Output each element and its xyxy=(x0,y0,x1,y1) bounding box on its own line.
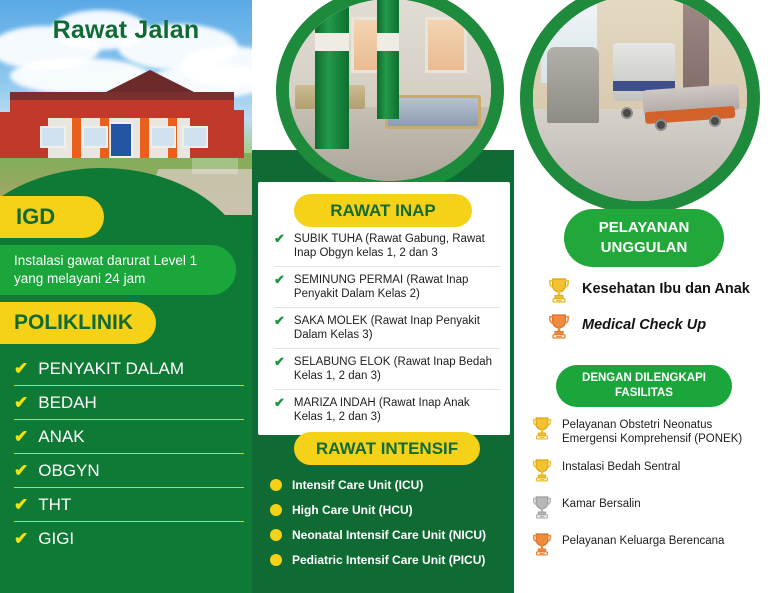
list-item[interactable]: Neonatal Intensif Care Unit (NICU) xyxy=(270,522,510,547)
bullet-dot-icon xyxy=(270,529,282,541)
list-item-label: Kamar Bersalin xyxy=(562,494,641,511)
poliklinik-pill: POLIKLINIK xyxy=(0,302,156,344)
list-item[interactable]: ✔ THT xyxy=(14,488,244,522)
wheel xyxy=(655,119,667,131)
list-item-label: Kesehatan Ibu dan Anak xyxy=(582,276,750,298)
list-item-label: THT xyxy=(38,495,71,515)
list-item-label: SELABUNG ELOK (Rawat Inap Bedah Kelas 1,… xyxy=(294,355,500,383)
trophy-icon xyxy=(532,415,552,441)
list-item-label: PENYAKIT DALAM xyxy=(38,359,184,379)
ward-curtain xyxy=(315,0,349,149)
building-sign xyxy=(192,158,238,174)
rawat-intensif-pill: RAWAT INTENSIF xyxy=(294,432,480,465)
list-item[interactable]: Pelayanan Keluarga Berencana xyxy=(532,531,768,557)
check-icon: ✔ xyxy=(274,355,285,369)
check-icon: ✔ xyxy=(274,314,285,328)
list-item[interactable]: ✔ SUBIK TUHA (Rawat Gabung, Rawat Inap O… xyxy=(274,226,500,267)
poliklinik-pill-label: POLIKLINIK xyxy=(14,311,133,335)
wheel xyxy=(621,107,633,119)
list-item[interactable]: Kesehatan Ibu dan Anak xyxy=(548,276,764,304)
left-column: Rawat Jalan IGD Instalasi gawat darurat … xyxy=(0,0,252,593)
poliklinik-list: ✔ PENYAKIT DALAM ✔ BEDAH ✔ ANAK ✔ OBGYN … xyxy=(14,352,244,556)
bullet-dot-icon xyxy=(270,504,282,516)
rawat-intensif-pill-label: RAWAT INTENSIF xyxy=(316,439,458,459)
trophy-icon xyxy=(548,276,570,304)
pillar xyxy=(72,118,81,158)
window xyxy=(82,126,108,148)
rawat-intensif-list: Intensif Care Unit (ICU) High Care Unit … xyxy=(270,472,510,572)
list-item[interactable]: Pelayanan Obstetri Neonatus Emergensi Ko… xyxy=(532,415,768,446)
trophy-icon xyxy=(532,494,552,520)
trophy-icon xyxy=(548,312,570,340)
pillar xyxy=(140,118,149,158)
check-icon: ✔ xyxy=(14,427,28,447)
curtain-band xyxy=(377,33,399,51)
list-item[interactable]: ✔ SEMINUNG PERMAI (Rawat Inap Penyakit D… xyxy=(274,267,500,308)
igd-pill: IGD xyxy=(0,196,104,238)
list-item-label: ANAK xyxy=(38,427,84,447)
window xyxy=(182,126,208,148)
list-item-label: High Care Unit (HCU) xyxy=(292,503,413,517)
list-item[interactable]: ✔ ANAK xyxy=(14,420,244,454)
list-item-label: OBGYN xyxy=(38,461,99,481)
list-item-label: GIGI xyxy=(38,529,74,549)
check-icon: ✔ xyxy=(274,273,285,287)
right-column: PELAYANAN UNGGULAN Kesehatan Ibu dan Ana… xyxy=(514,0,768,593)
curtain-band xyxy=(315,33,349,51)
bullet-dot-icon xyxy=(270,554,282,566)
list-item-label: Medical Check Up xyxy=(582,312,706,334)
wheel xyxy=(709,115,721,127)
list-item[interactable]: ✔ MARIZA INDAH (Rawat Inap Anak Kelas 1,… xyxy=(274,390,500,430)
pelayanan-unggulan-label: PELAYANAN UNGGULAN xyxy=(564,218,724,258)
fasilitas-list: Pelayanan Obstetri Neonatus Emergensi Ko… xyxy=(532,415,768,568)
list-item[interactable]: Kamar Bersalin xyxy=(532,494,768,520)
list-item-label: BEDAH xyxy=(38,393,97,413)
list-item[interactable]: Medical Check Up xyxy=(548,312,764,340)
check-icon: ✔ xyxy=(14,461,28,481)
list-item-label: Pelayanan Obstetri Neonatus Emergensi Ko… xyxy=(562,415,768,446)
list-item[interactable]: ✔ OBGYN xyxy=(14,454,244,488)
poster-root: Rawat Jalan IGD Instalasi gawat darurat … xyxy=(0,0,768,593)
window xyxy=(150,126,176,148)
check-icon: ✔ xyxy=(274,396,285,410)
check-icon: ✔ xyxy=(14,359,28,379)
hospital-ward-photo xyxy=(289,0,491,181)
list-item[interactable]: Pediatric Intensif Care Unit (PICU) xyxy=(270,547,510,572)
check-icon: ✔ xyxy=(14,495,28,515)
igd-description: Instalasi gawat darurat Level 1 yang mel… xyxy=(14,253,197,286)
list-item-label: Instalasi Bedah Sentral xyxy=(562,457,680,474)
igd-description-pill: Instalasi gawat darurat Level 1 yang mel… xyxy=(0,245,236,295)
rawat-inap-pill: RAWAT INAP xyxy=(294,194,472,227)
bullet-dot-icon xyxy=(270,479,282,491)
igd-pill-label: IGD xyxy=(16,204,55,230)
pelayanan-unggulan-pill: PELAYANAN UNGGULAN xyxy=(564,209,724,267)
rawat-inap-list: ✔ SUBIK TUHA (Rawat Gabung, Rawat Inap O… xyxy=(274,226,500,430)
list-item-label: Pediatric Intensif Care Unit (PICU) xyxy=(292,553,485,567)
examination-chair xyxy=(547,47,599,123)
check-icon: ✔ xyxy=(274,232,285,246)
trophy-icon xyxy=(532,531,552,557)
pelayanan-unggulan-list: Kesehatan Ibu dan Anak Medical Check Up xyxy=(548,276,764,348)
window xyxy=(425,17,467,73)
ward-curtain xyxy=(377,0,399,119)
list-item[interactable]: Intensif Care Unit (ICU) xyxy=(270,472,510,497)
list-item-label: SAKA MOLEK (Rawat Inap Penyakit Dalam Ke… xyxy=(294,314,500,342)
list-item[interactable]: Instalasi Bedah Sentral xyxy=(532,457,768,483)
list-item-label: Intensif Care Unit (ICU) xyxy=(292,478,423,492)
fasilitas-pill-label: DENGAN DILENGKAPI FASILITAS xyxy=(556,371,732,401)
list-item-label: MARIZA INDAH (Rawat Inap Anak Kelas 1, 2… xyxy=(294,396,500,424)
delivery-room-photo xyxy=(533,0,747,201)
hospital-bed xyxy=(385,95,481,129)
entrance-door xyxy=(109,122,133,158)
list-item-label: SEMINUNG PERMAI (Rawat Inap Penyakit Dal… xyxy=(294,273,500,301)
list-item[interactable]: ✔ PENYAKIT DALAM xyxy=(14,352,244,386)
fasilitas-pill: DENGAN DILENGKAPI FASILITAS xyxy=(556,365,732,407)
rawat-inap-pill-label: RAWAT INAP xyxy=(330,201,435,221)
building-shape xyxy=(10,70,234,158)
check-icon: ✔ xyxy=(14,529,28,549)
list-item[interactable]: ✔ BEDAH xyxy=(14,386,244,420)
check-icon: ✔ xyxy=(14,393,28,413)
list-item[interactable]: ✔ GIGI xyxy=(14,522,244,556)
list-item-label: Neonatal Intensif Care Unit (NICU) xyxy=(292,528,486,542)
list-item[interactable]: ✔ SAKA MOLEK (Rawat Inap Penyakit Dalam … xyxy=(274,308,500,349)
list-item-label: Pelayanan Keluarga Berencana xyxy=(562,531,724,548)
list-item-label: SUBIK TUHA (Rawat Gabung, Rawat Inap Obg… xyxy=(294,232,500,260)
page-title: Rawat Jalan xyxy=(0,16,252,45)
list-item[interactable]: High Care Unit (HCU) xyxy=(270,497,510,522)
middle-column: ✔ SUBIK TUHA (Rawat Gabung, Rawat Inap O… xyxy=(252,0,514,593)
trophy-icon xyxy=(532,457,552,483)
list-item[interactable]: ✔ SELABUNG ELOK (Rawat Inap Bedah Kelas … xyxy=(274,349,500,390)
window xyxy=(40,126,66,148)
